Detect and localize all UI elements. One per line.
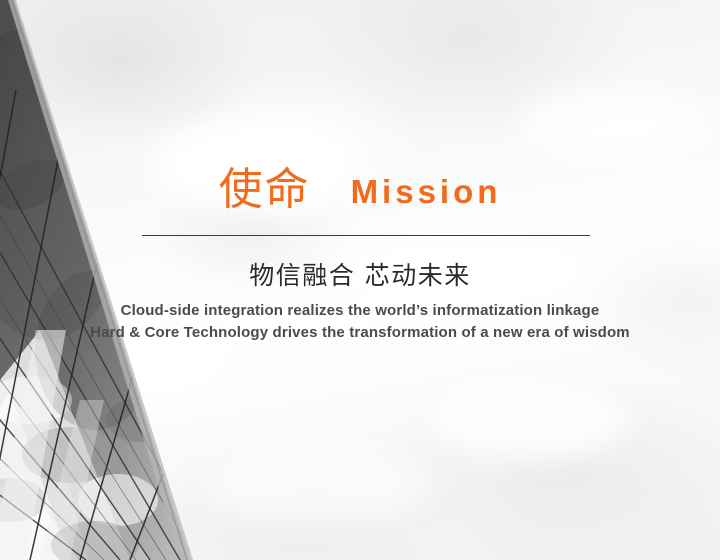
hero-body-lines: Cloud-side integration realizes the worl… — [0, 300, 720, 344]
hero-subtitle-chinese: 物信融合 芯动未来 — [0, 256, 720, 292]
title-divider-rule — [142, 235, 590, 236]
hero-content: 使命Mission 物信融合 芯动未来 Cloud-side integrati… — [0, 0, 720, 560]
hero-banner: 使命Mission 物信融合 芯动未来 Cloud-side integrati… — [0, 0, 720, 560]
hero-body-line-1: Cloud-side integration realizes the worl… — [0, 300, 720, 322]
hero-body-line-2: Hard & Core Technology drives the transf… — [0, 322, 720, 344]
hero-title-chinese: 使命 — [219, 168, 311, 212]
hero-title: 使命Mission — [0, 168, 720, 212]
hero-title-english: Mission — [351, 175, 502, 208]
